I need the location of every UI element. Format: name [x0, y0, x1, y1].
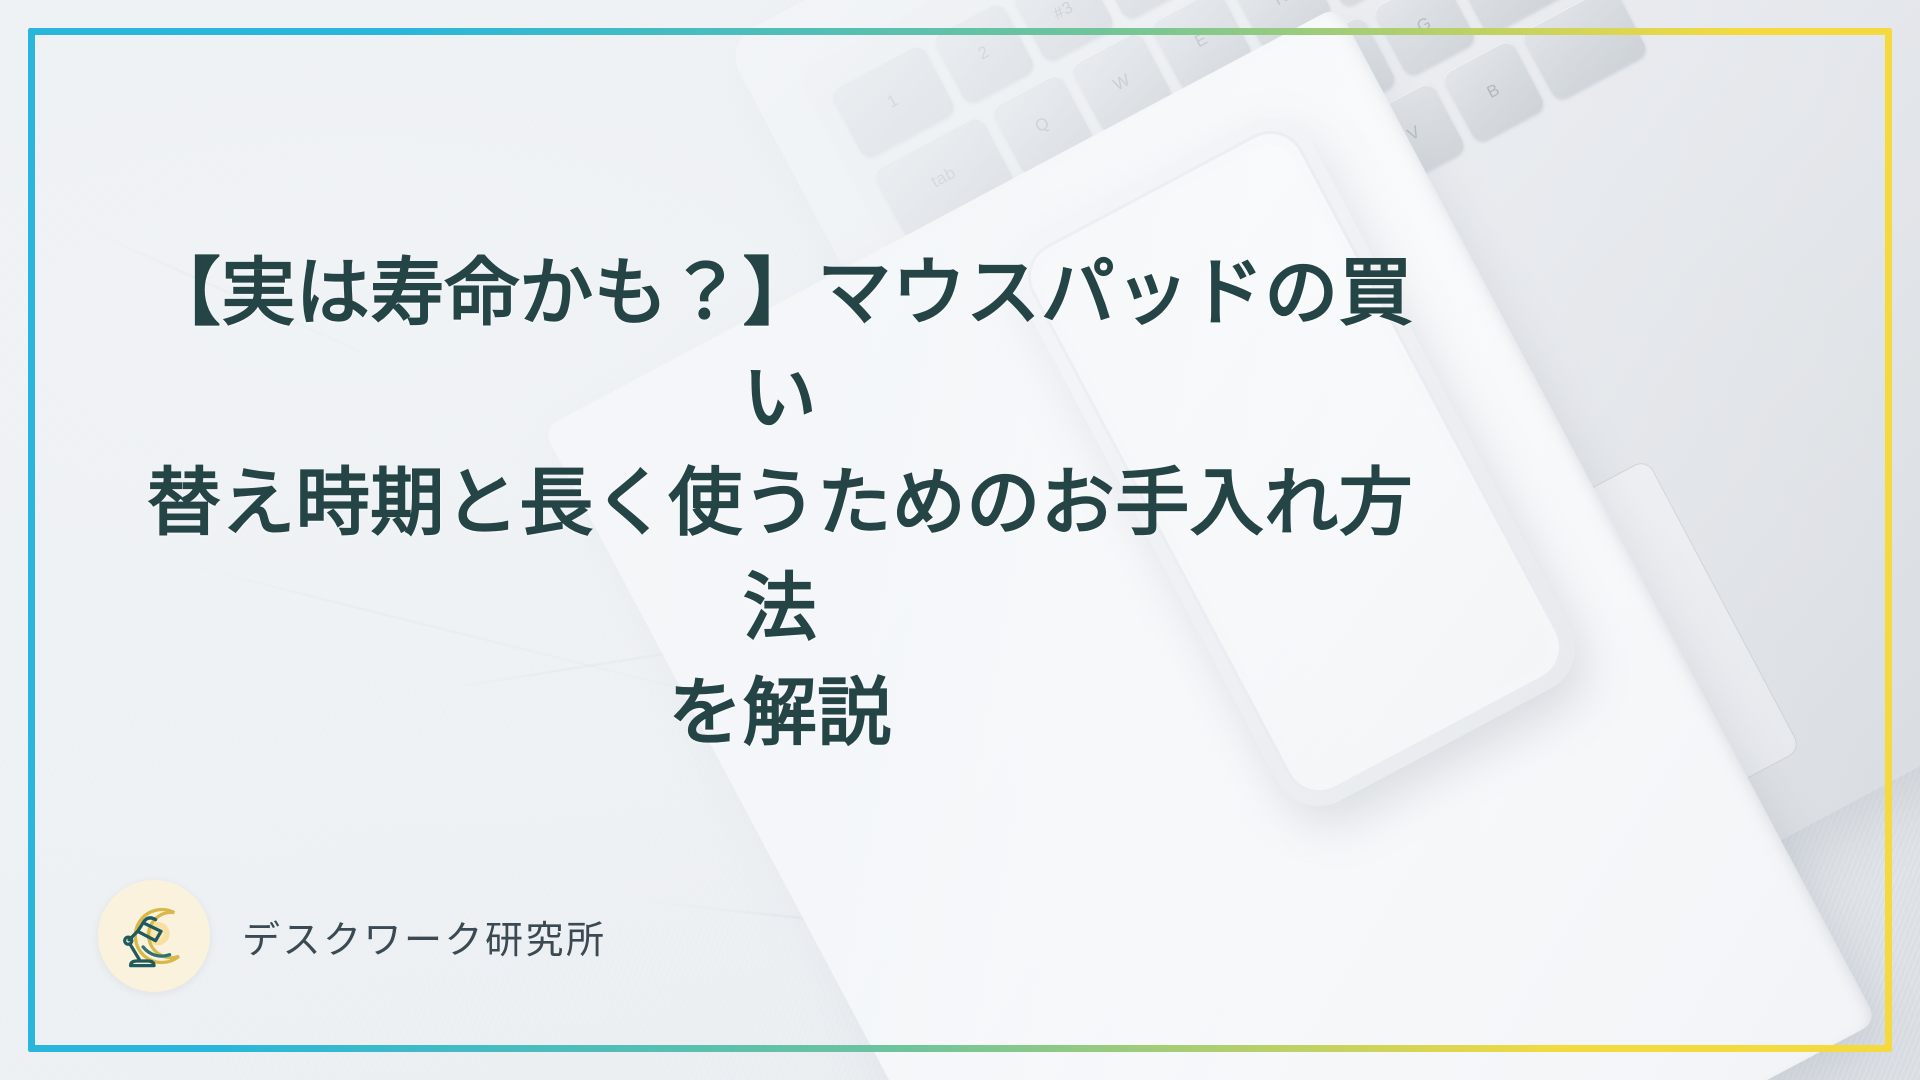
logo-badge	[98, 880, 210, 992]
page-title-line-2: 替え時期と長く使うためのお手入れ方法	[120, 450, 1440, 660]
site-logo: デスクワーク研究所	[98, 880, 607, 992]
logo-text: デスクワーク研究所	[242, 909, 607, 964]
desk-lamp-moon-icon	[115, 897, 193, 975]
page-title-line-3: を解説	[120, 660, 1440, 765]
page-title-line-1: 【実は寿命かも？】マウスパッドの買い	[120, 240, 1440, 450]
title-block: 【実は寿命かも？】マウスパッドの買い 替え時期と長く使うためのお手入れ方法 を解…	[120, 240, 1440, 765]
eyecatch-canvas: 1 2 #3 $4 %5 &6 tab Q W E R T	[0, 0, 1920, 1080]
